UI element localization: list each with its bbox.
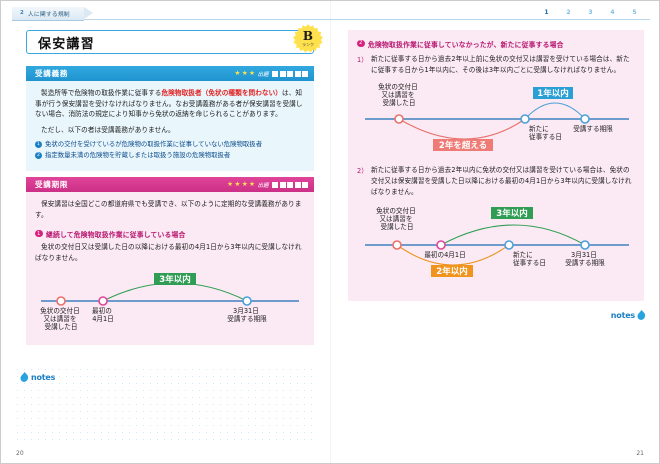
section-deadline-continued: 2 危険物取扱作業に従事していなかったが、新たに従事する場合 1） 新たに従事す…: [348, 30, 644, 301]
rank-letter: B: [293, 29, 323, 43]
timeline-point-1-label: 免状の交付日 又は講習を 受講した日: [376, 206, 418, 231]
tab-separator: /: [575, 6, 584, 19]
notes-leaf-icon: [20, 372, 29, 382]
arc-bottom-label-text: 2年以内: [436, 266, 467, 277]
section-qualification-title: 受講義務: [35, 68, 68, 79]
tab-5[interactable]: 5: [628, 6, 641, 19]
qualification-paragraph-1: 製造所等で危険物の取扱作業に従事する危険物取扱者（免状の種類を問わない）は、知事…: [35, 88, 305, 120]
section-deadline-title: 受講期限: [35, 179, 68, 190]
section-deadline-header: 受講期限 ★ ★ ★ ★ 出題: [26, 177, 314, 192]
bullet-text: 指定数量未満の危険物を貯蔵しまたは取扱う施設の危険物取扱者: [45, 151, 230, 161]
deadline-case-2-heading: 2 危険物取扱作業に従事していなかったが、新たに従事する場合: [357, 39, 635, 49]
folio-left: 20: [16, 450, 24, 457]
arc-bottom-label-text: 2年を超える: [439, 140, 487, 151]
timeline-point-1: [395, 115, 403, 123]
bullet-number: 1: [35, 141, 42, 148]
star-icon: ★: [249, 181, 255, 188]
arc-top-label-text: 1年以内: [537, 88, 568, 99]
section-qualification-body: 製造所等で危険物の取扱作業に従事する危険物取扱者（免状の種類を問わない）は、知事…: [26, 81, 314, 171]
bullet-number: 2: [35, 152, 42, 159]
list-item: 2 指定数量未満の危険物を貯蔵しまたは取扱う施設の危険物取扱者: [35, 151, 305, 161]
book-spread: 2 人に関する規制 保安講習 B ランク 受講義務 ★ ★ ★ 出題: [0, 0, 660, 464]
star-icon: ★: [235, 181, 241, 188]
rating-square: [287, 182, 293, 188]
section-qualification-header: 受講義務 ★ ★ ★ 出題: [26, 66, 314, 81]
sub-body: 新たに従事する日から過去2年以上前に免状の交付又は講習を受けている場合は、新たに…: [371, 54, 635, 75]
timeline-point-1: [393, 241, 401, 249]
tab-3[interactable]: 3: [584, 6, 597, 19]
list-item: 1 免状の交付を受けているが危険物の取扱作業に従事していない危険物取扱者: [35, 140, 305, 150]
star-icon: ★: [242, 181, 248, 188]
timeline-diagram-case-2-2: 3年以内 2年以内 免状の交付日 又は講習を 受講した日: [357, 201, 635, 289]
timeline-point-3-label: 3月31日 受講する期限: [227, 307, 267, 323]
timeline-point-1: [57, 297, 65, 305]
notes-wordmark: notes: [611, 311, 635, 320]
section-deadline: 受講期限 ★ ★ ★ ★ 出題 保安講習は全国どこの都道府県でも受講でき、以下の…: [26, 177, 314, 345]
rating-square: [302, 182, 308, 188]
qualification-exception-list: 1 免状の交付を受けているが危険物の取扱作業に従事していない危険物取扱者 2 指…: [35, 140, 305, 161]
tab-2[interactable]: 2: [562, 6, 575, 19]
timeline-point-2-label: 最初の 4月1日: [92, 306, 114, 323]
notes-area-left: notes: [14, 366, 314, 442]
qual-para1-pre: 製造所等で危険物の取扱作業に従事する: [41, 89, 162, 97]
deadline-case-1-heading: 1 継続して危険物取扱作業に従事している場合: [35, 229, 305, 239]
deadline-case-1: 1 継続して危険物取扱作業に従事している場合 免状の交付日又は受講した日の以降に…: [35, 229, 305, 332]
page-title-bar: 保安講習 B ランク: [26, 30, 314, 54]
rating-square: [272, 182, 278, 188]
timeline-point-4-label: 3月31日 受講する期限: [565, 251, 605, 267]
deadline-case-2-sub-2: 2） 新たに従事する日から過去2年以内に免状の交付又は講習を受けている場合は、免…: [357, 165, 635, 197]
tab-separator: /: [597, 6, 606, 19]
qualification-paragraph-2: ただし、以下の者は受講義務がありません。: [35, 125, 305, 136]
timeline-point-3: [505, 241, 513, 249]
sub-body: 新たに従事する日から過去2年以内に免状の交付又は講習を受けている場合は、免状の交…: [371, 165, 635, 197]
tab-4[interactable]: 4: [606, 6, 619, 19]
arc-label-text: 3年以内: [159, 274, 190, 285]
rating-square: [287, 71, 293, 77]
rating-label: 出題: [257, 181, 268, 189]
timeline-point-2-label: 最初の4月1日: [424, 250, 465, 259]
timeline-point-4: [581, 241, 589, 249]
timeline-point-3: [581, 115, 589, 123]
tab-separator: /: [641, 6, 650, 19]
rating-square: [280, 71, 286, 77]
rating-square: [295, 71, 301, 77]
running-head-number: 2: [20, 10, 24, 16]
rating-square: [302, 71, 308, 77]
notes-wordmark: notes: [31, 373, 55, 382]
arc-top-label-text: 3年以内: [496, 208, 527, 219]
timeline-arc-3years: [103, 283, 247, 301]
timeline-arc-over-2years: [399, 119, 525, 139]
page-gutter: [330, 0, 331, 464]
rating-square: [272, 71, 278, 77]
page-title: 保安講習: [38, 33, 95, 52]
notes-logo-left: notes: [20, 372, 55, 382]
running-head: 2 人に関する規制: [12, 7, 84, 20]
timeline-point-2: [437, 241, 445, 249]
rank-badge: B ランク: [293, 24, 323, 54]
left-page: 2 人に関する規制 保安講習 B ランク 受講義務 ★ ★ ★ 出題: [0, 0, 330, 464]
timeline-point-1-label: 免状の交付日 又は講習を 受講した日: [378, 82, 420, 107]
timeline-diagram-case-2-1: 1年以内 2年を超える 免状の交付日 又は講習を 受講した日 新たに: [357, 79, 635, 155]
timeline-point-1-label: 免状の交付日 又は講習を 受講した日: [40, 306, 82, 331]
timeline-point-3: [243, 297, 251, 305]
tab-1[interactable]: 1: [540, 6, 553, 19]
timeline-arc-3years: [441, 225, 585, 245]
notes-logo-right: notes: [611, 310, 646, 320]
timeline-diagram-case-1: 3年以内 免状の交付日 又は講習を 受講した日 最初の: [35, 271, 305, 333]
rating-square: [280, 182, 286, 188]
section-qualification: 受講義務 ★ ★ ★ 出題 製造所等で危険物の取扱作業に従事する危険物取扱者（免…: [26, 66, 314, 171]
timeline-point-3-label: 新たに 従事する日: [513, 250, 546, 267]
deadline-case-2-sub-1: 1） 新たに従事する日から過去2年以上前に免状の交付又は講習を受けている場合は、…: [357, 54, 635, 75]
tab-separator: /: [553, 6, 562, 19]
timeline-point-3-label: 受講する期限: [573, 124, 613, 133]
timeline-arc-1year: [525, 103, 585, 119]
star-icon: ★: [249, 70, 255, 77]
sub-marker: 2）: [357, 165, 367, 175]
section-deadline-continued-body: 2 危険物取扱作業に従事していなかったが、新たに従事する場合 1） 新たに従事す…: [348, 30, 644, 301]
running-head-tab: 2 人に関する規制: [12, 7, 84, 21]
tab-separator: /: [619, 6, 628, 19]
tab-index: 1 / 2 / 3 / 4 / 5 /: [540, 6, 650, 19]
section-deadline-body: 保安講習は全国どこの都道府県でも受講でき、以下のように定期的な受講義務があります…: [26, 192, 314, 345]
case-heading-text: 継続して危険物取扱作業に従事している場合: [46, 229, 186, 239]
rating-label: 出題: [257, 70, 268, 78]
qual-para1-emphasis: 危険物取扱者（免状の種類を問わない）: [162, 89, 283, 97]
case-number: 2: [357, 40, 365, 48]
notes-leaf-icon: [637, 310, 646, 320]
folio-right: 21: [636, 450, 644, 457]
bullet-text: 免状の交付を受けているが危険物の取扱作業に従事していない危険物取扱者: [45, 140, 262, 150]
case-number: 1: [35, 230, 43, 238]
star-icon: ★: [242, 70, 248, 77]
deadline-case-1-body: 免状の交付日又は受講した日の以降における最初の4月1日から3年以内に受講しなけれ…: [35, 242, 305, 263]
star-icon: ★: [235, 70, 241, 77]
section-deadline-rating: ★ ★ ★ ★ 出題: [227, 181, 308, 189]
right-page: 1 / 2 / 3 / 4 / 5 / 2 危険物取扱作業に従事していなかったが…: [330, 0, 660, 464]
running-head-title: 人に関する規制: [28, 9, 70, 18]
rating-square: [295, 182, 301, 188]
tab-index-rule: [330, 19, 650, 20]
case-heading-text: 危険物取扱作業に従事していなかったが、新たに従事する場合: [368, 39, 564, 49]
sub-marker: 1）: [357, 54, 367, 64]
section-qualification-rating: ★ ★ ★ 出題: [235, 70, 309, 78]
timeline-point-2: [521, 115, 529, 123]
timeline-point-2: [99, 297, 107, 305]
deadline-intro: 保安講習は全国どこの都道府県でも受講でき、以下のように定期的な受講義務があります…: [35, 199, 305, 220]
star-icon: ★: [227, 181, 233, 188]
timeline-point-2-label: 新たに 従事する日: [529, 124, 562, 141]
rank-sublabel: ランク: [293, 42, 323, 48]
